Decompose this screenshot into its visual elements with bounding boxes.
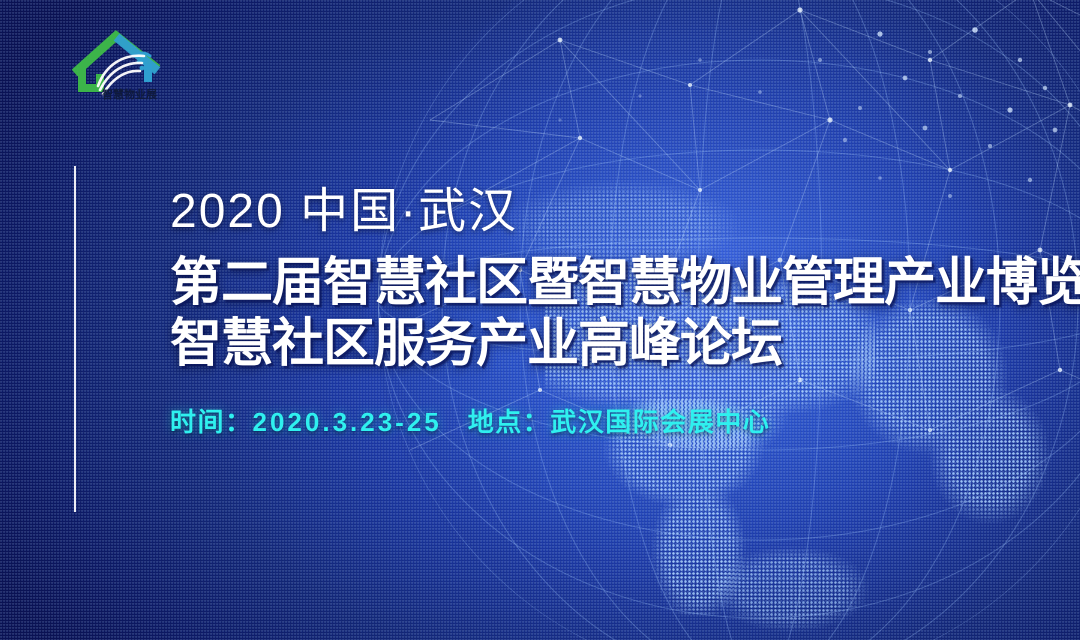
continent-dots-south [690,545,920,640]
title-line-forum: 智慧社区服务产业高峰论坛 [170,317,1030,372]
logo-text: 智慧物业展 [102,87,158,100]
venue-label: 地点： [468,407,551,437]
smart-property-expo-logo-mark: 智慧物业展 [72,26,176,100]
title-line-expo: 第二届智慧社区暨智慧物业管理产业博览会 [170,256,1030,311]
date-value: 2020.3.23-25 [253,407,442,437]
accent-vertical-bar [74,166,76,512]
event-info: 时间：2020.3.23-25地点：武汉国际会展中心 [170,402,1030,439]
expo-logo: 智慧物业展 [72,26,176,100]
venue-value: 武汉国际会展中心 [550,407,770,437]
date-label: 时间： [170,407,253,437]
expo-banner: 智慧物业展 2020 中国·武汉 第二届智慧社区暨智慧物业管理产业博览会 智慧社… [0,0,1080,640]
title-line-location: 2020 中国·武汉 [170,188,1030,236]
